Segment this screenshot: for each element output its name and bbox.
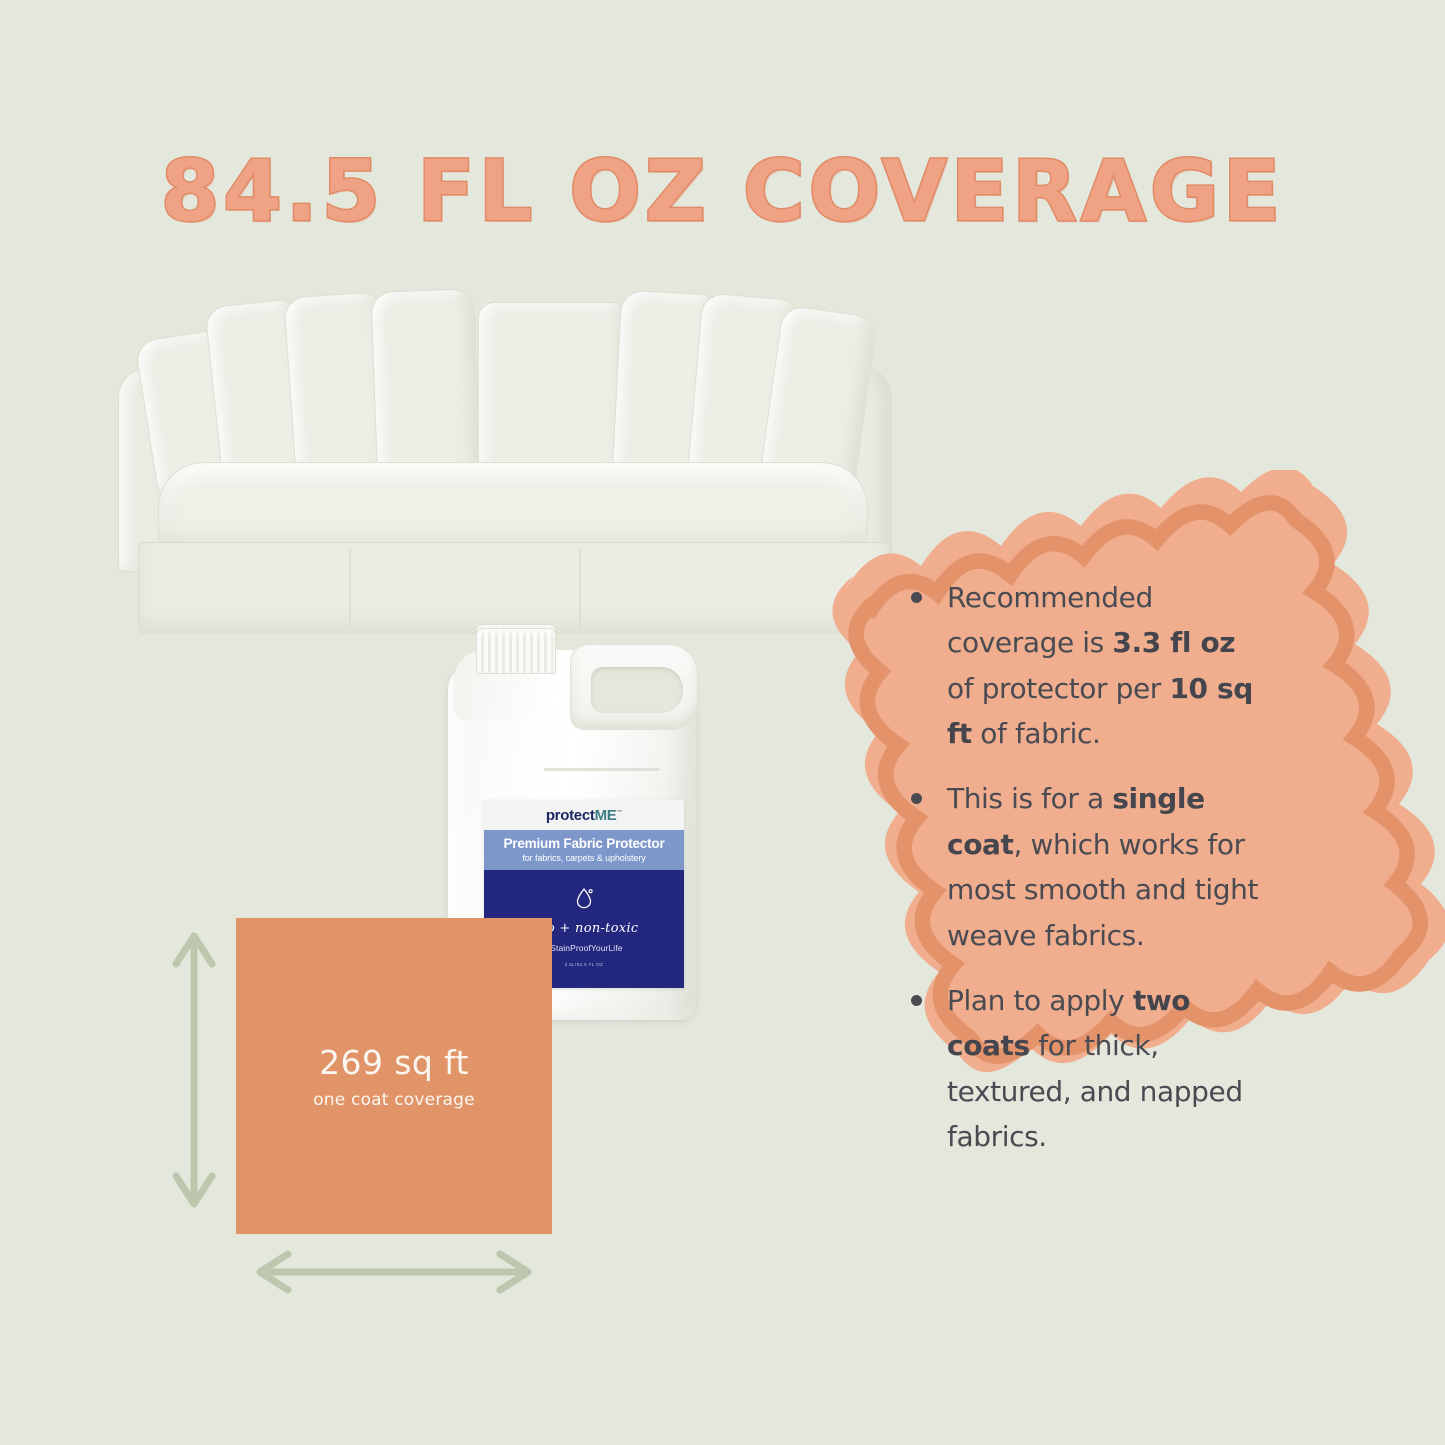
bullet-item: Plan to apply two coats for thick, textu… [903, 978, 1263, 1159]
bottle-handle [570, 644, 698, 730]
bullet-item: Recommended coverage is 3.3 fl oz of pro… [903, 575, 1263, 756]
label-product-subtitle: for fabrics, carpets & upholstery [488, 853, 680, 863]
double-arrow-horizontal-icon [244, 1246, 544, 1303]
label-hashtag: #StainProofYourLife [545, 943, 622, 953]
coverage-value: 269 sq ft [319, 1043, 469, 1082]
page-title: 84.5 FL OZ COVERAGE [161, 142, 1284, 240]
label-blue-band: Premium Fabric Protector for fabrics, ca… [484, 830, 684, 870]
bottle-cap [476, 628, 556, 674]
bullet-emphasis: 3.3 fl oz [1112, 626, 1235, 659]
bullet-list: Recommended coverage is 3.3 fl oz of pro… [903, 575, 1263, 1159]
brand-logo: protectME™ [546, 807, 622, 824]
double-arrow-vertical-icon [168, 920, 220, 1225]
bottle-handle-hole [591, 667, 683, 713]
coverage-caption: one coat coverage [313, 1090, 475, 1110]
bottle-seam [544, 768, 660, 771]
info-panel-content: Recommended coverage is 3.3 fl oz of pro… [903, 575, 1263, 1179]
bullet-text: Plan to apply [947, 984, 1133, 1017]
sofa-center-pillow [478, 302, 628, 486]
brand-primary: protect [546, 807, 595, 824]
info-panel: Recommended coverage is 3.3 fl oz of pro… [775, 470, 1445, 1300]
page-title-area: 84.5 FL OZ COVERAGE [0, 138, 1445, 243]
label-volume: 2.5L/84.5 FL OZ [565, 962, 604, 967]
water-droplet-icon [574, 886, 594, 915]
bullet-text: of protector per [947, 672, 1169, 705]
bullet-text: of fabric. [972, 717, 1101, 750]
coverage-area-square: 269 sq ft one coat coverage [236, 918, 552, 1234]
sofa-seat-cushion [158, 462, 868, 554]
bullet-text: This is for a [947, 782, 1112, 815]
label-product-title: Premium Fabric Protector [488, 836, 680, 851]
label-brand-bar: protectME™ [484, 800, 684, 830]
brand-trademark: ™ [616, 810, 622, 816]
bullet-item: This is for a single coat, which works f… [903, 776, 1263, 957]
brand-secondary: ME [595, 807, 617, 824]
